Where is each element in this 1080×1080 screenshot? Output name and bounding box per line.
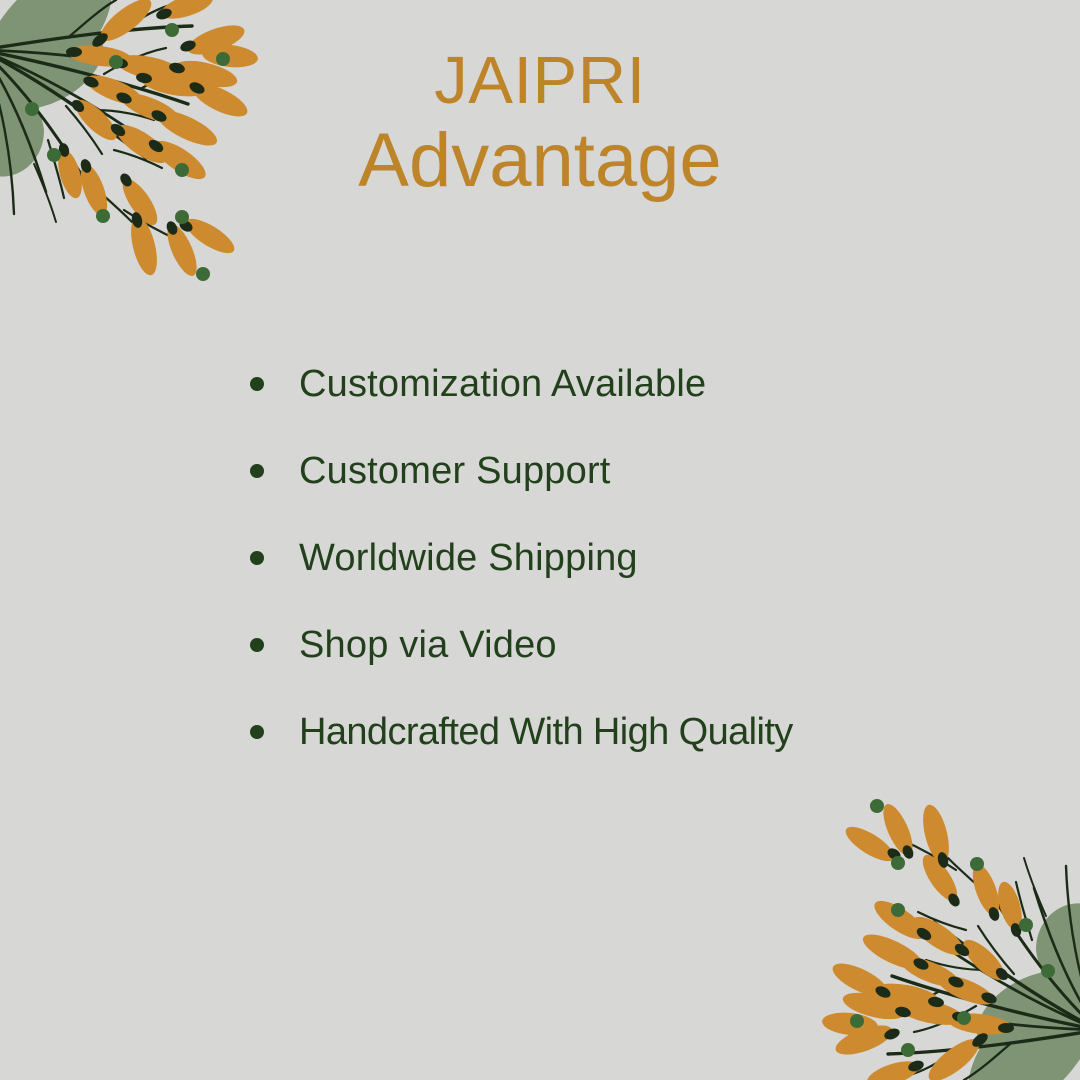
botanical-branch-icon-bottom-right [776, 752, 1080, 1080]
bullet-icon [250, 725, 264, 739]
list-item-label: Worldwide Shipping [299, 539, 638, 577]
list-item: Customer Support [250, 427, 1010, 514]
advantage-feature-list: Customization Available Customer Support… [250, 340, 1010, 775]
title-subtitle: Advantage [260, 115, 820, 208]
poster-canvas: JAIPRI Advantage Customization Available… [0, 0, 1080, 1080]
list-item-label: Customization Available [299, 365, 706, 403]
list-item-label: Shop via Video [299, 626, 557, 664]
list-item: Shop via Video [250, 601, 1010, 688]
page-title: JAIPRI Advantage [260, 46, 820, 208]
brand-name: JAIPRI [260, 46, 820, 115]
list-item: Customization Available [250, 340, 1010, 427]
list-item: Handcrafted With High Quality [250, 688, 1010, 775]
list-item-label: Handcrafted With High Quality [299, 713, 793, 751]
botanical-branch-icon-top-left [0, 0, 304, 328]
list-item-label: Customer Support [299, 452, 611, 490]
bullet-icon [250, 377, 264, 391]
bullet-icon [250, 464, 264, 478]
bullet-icon [250, 638, 264, 652]
bullet-icon [250, 551, 264, 565]
list-item: Worldwide Shipping [250, 514, 1010, 601]
